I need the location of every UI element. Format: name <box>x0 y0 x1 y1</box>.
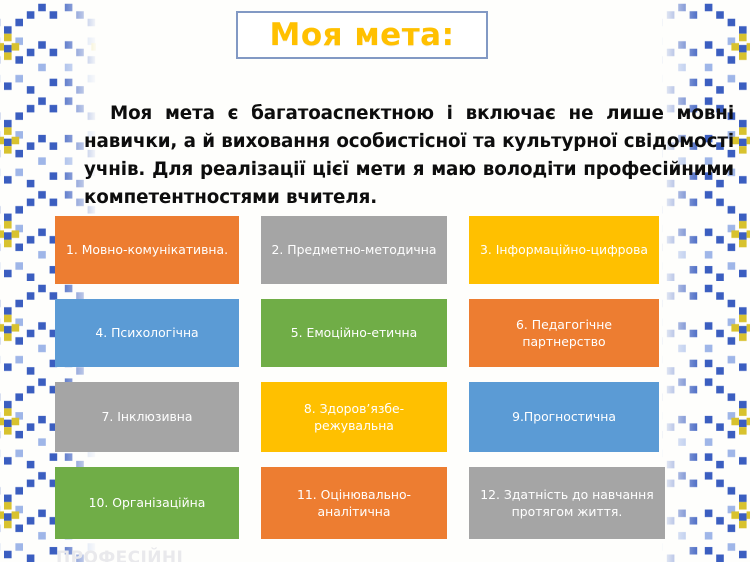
competency-tile-6[interactable]: 6. Педагогічне партнерство <box>469 299 659 367</box>
competency-tile-label: 7. Інклюзивна <box>102 408 193 425</box>
competency-tile-label: 6. Педагогічне партнерство <box>477 316 651 350</box>
competency-tile-10[interactable]: 10. Організаційна <box>55 467 239 539</box>
competency-tile-1[interactable]: 1. Мовно-комунікативна. <box>55 216 239 284</box>
slide-body-paragraph: Моя мета є багатоаспектною і включає не … <box>84 100 734 211</box>
competency-tile-3[interactable]: 3. Інформаційно-цифрова <box>469 216 659 284</box>
competency-tile-label: 4. Психологічна <box>95 324 198 341</box>
competency-tile-label: 1. Мовно-комунікативна. <box>66 241 228 258</box>
competency-grid: 1. Мовно-комунікативна. 2. Предметно-мет… <box>55 216 665 539</box>
page-title: Моя мета: <box>270 20 455 51</box>
competency-tile-label: 12. Здатність до навчання протягом життя… <box>477 486 657 520</box>
competency-tile-label: 8. Здоров’язбе-режувальна <box>269 400 439 434</box>
competency-tile-8[interactable]: 8. Здоров’язбе-режувальна <box>261 382 447 452</box>
background-fade-right <box>660 0 702 562</box>
competency-tile-7[interactable]: 7. Інклюзивна <box>55 382 239 452</box>
competency-tile-label: 3. Інформаційно-цифрова <box>480 241 648 258</box>
competency-row: 10. Організаційна 11. Оцінювально-аналіт… <box>55 467 665 539</box>
competency-tile-5[interactable]: 5. Емоційно-етична <box>261 299 447 367</box>
slide-canvas: Моя мета: Моя мета є багатоаспектною і в… <box>0 0 750 562</box>
competency-tile-9[interactable]: 9.Прогностична <box>469 382 659 452</box>
competency-tile-11[interactable]: 11. Оцінювально-аналітична <box>261 467 447 539</box>
competency-tile-label: 5. Емоційно-етична <box>291 324 418 341</box>
competency-tile-12[interactable]: 12. Здатність до навчання протягом життя… <box>469 467 665 539</box>
competency-row: 7. Інклюзивна 8. Здоров’язбе-режувальна … <box>55 382 665 452</box>
slide-title-box: Моя мета: <box>236 11 488 59</box>
competency-row: 4. Психологічна 5. Емоційно-етична 6. Пе… <box>55 299 665 367</box>
competency-tile-label: 10. Організаційна <box>89 494 206 511</box>
competency-tile-label: 2. Предметно-методична <box>272 241 437 258</box>
competency-tile-2[interactable]: 2. Предметно-методична <box>261 216 447 284</box>
competency-row: 1. Мовно-комунікативна. 2. Предметно-мет… <box>55 216 665 284</box>
competency-tile-label: 9.Прогностична <box>512 408 616 425</box>
competency-tile-4[interactable]: 4. Психологічна <box>55 299 239 367</box>
footer-cutoff-text: ПРОФЕСІЙНІ <box>56 548 183 562</box>
competency-tile-label: 11. Оцінювально-аналітична <box>269 486 439 520</box>
